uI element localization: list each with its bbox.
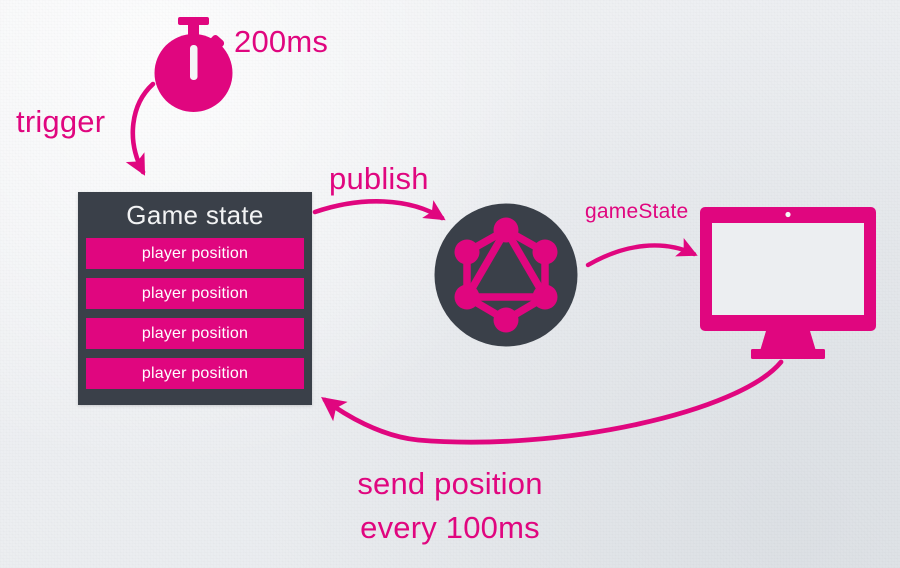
game-state-panel: Game state player position player positi… (78, 192, 312, 405)
send-position-label: send position every 100ms (0, 462, 900, 550)
game-state-title: Game state (86, 199, 304, 232)
publish-label: publish (329, 161, 429, 197)
diagram-labels-layer: 200ms trigger publish gameState send pos… (0, 0, 900, 568)
player-position-row: player position (86, 238, 304, 269)
player-position-row: player position (86, 278, 304, 309)
send-position-line-2: every 100ms (0, 506, 900, 550)
player-position-row: player position (86, 358, 304, 389)
send-position-line-1: send position (0, 462, 900, 506)
player-position-row: player position (86, 318, 304, 349)
gamestate-label: gameState (585, 200, 688, 224)
timer-label: 200ms (234, 24, 328, 60)
trigger-label: trigger (16, 104, 105, 140)
